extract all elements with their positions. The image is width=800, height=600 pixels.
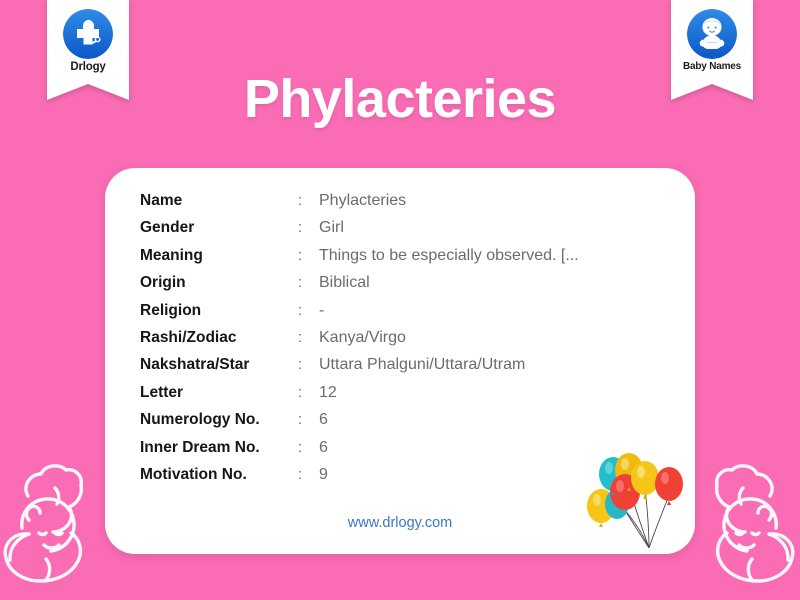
row-label: Numerology No. (140, 411, 298, 429)
row-value: Biblical (319, 274, 370, 292)
row-separator: : (298, 219, 319, 236)
table-row: Origin : Biblical (140, 274, 660, 301)
row-separator: : (298, 466, 319, 483)
table-row: Numerology No. : 6 (140, 411, 660, 438)
row-value: 6 (319, 411, 328, 429)
row-value: Girl (319, 219, 344, 237)
table-row: Name : Phylacteries (140, 192, 660, 219)
table-row: Motivation No. : 9 (140, 466, 660, 493)
row-label: Meaning (140, 247, 298, 265)
row-label: Letter (140, 384, 298, 402)
row-label: Rashi/Zodiac (140, 329, 298, 347)
row-value: 12 (319, 384, 337, 402)
row-separator: : (298, 384, 319, 401)
row-value: Kanya/Virgo (319, 329, 406, 347)
details-table: Name : Phylacteries Gender : Girl Meanin… (140, 192, 660, 493)
table-row: Inner Dream No. : 6 (140, 439, 660, 466)
row-value: 6 (319, 439, 328, 457)
name-details-card: Name : Phylacteries Gender : Girl Meanin… (105, 168, 695, 554)
row-value: - (319, 302, 324, 320)
row-label: Religion (140, 302, 298, 320)
row-value: Phylacteries (319, 192, 406, 210)
row-value: 9 (319, 466, 328, 484)
table-row: Letter : 12 (140, 384, 660, 411)
row-separator: : (298, 247, 319, 264)
row-label: Motivation No. (140, 466, 298, 484)
table-row: Nakshatra/Star : Uttara Phalguni/Uttara/… (140, 356, 660, 383)
mother-and-baby-icon (686, 450, 800, 600)
row-label: Inner Dream No. (140, 439, 298, 457)
table-row: Religion : - (140, 302, 660, 329)
table-row: Rashi/Zodiac : Kanya/Virgo (140, 329, 660, 356)
row-label: Name (140, 192, 298, 210)
website-url[interactable]: www.drlogy.com (105, 515, 695, 531)
row-label: Nakshatra/Star (140, 356, 298, 374)
row-separator: : (298, 356, 319, 373)
baby-logo-icon (687, 9, 737, 59)
row-separator: : (298, 192, 319, 209)
row-separator: : (298, 411, 319, 428)
row-separator: : (298, 329, 319, 346)
table-row: Meaning : Things to be especially observ… (140, 247, 660, 274)
website-url-text: www.drlogy.com (348, 515, 452, 531)
page-title: Phylacteries (0, 68, 800, 130)
row-separator: : (298, 302, 319, 319)
drlogy-medical-logo-icon (63, 9, 113, 59)
row-separator: : (298, 439, 319, 456)
table-row: Gender : Girl (140, 219, 660, 246)
row-value: Things to be especially observed. [... (319, 247, 579, 265)
row-separator: : (298, 274, 319, 291)
row-value: Uttara Phalguni/Uttara/Utram (319, 356, 525, 374)
mother-and-baby-icon (0, 450, 112, 600)
row-label: Origin (140, 274, 298, 292)
row-label: Gender (140, 219, 298, 237)
